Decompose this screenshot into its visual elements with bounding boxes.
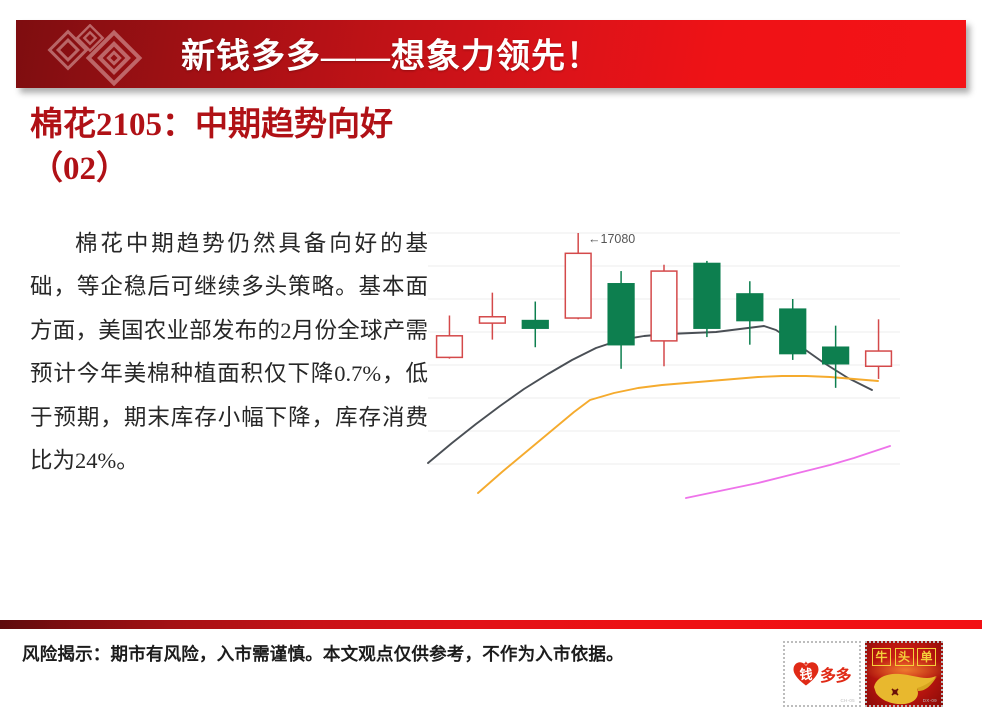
candle-body [737, 294, 763, 321]
candle [522, 302, 548, 348]
page-title: 棉花2105：中期趋势向好（02） [30, 103, 430, 191]
header-title: 新钱多多——想象力领先！ [181, 29, 601, 78]
niutoudan-chars: 牛 头 单 [872, 648, 936, 666]
heart-char: 钱 [799, 668, 812, 681]
candle [479, 293, 505, 340]
candle [737, 281, 763, 344]
ma-line-ma-mid [478, 376, 878, 493]
footer-divider [0, 620, 982, 629]
candle-body [651, 271, 677, 341]
candle-body [479, 317, 505, 323]
disclaimer-text: 风险揭示：期市有风险，入市需谨慎。本文观点仅供参考，不作为入市依据。 [22, 641, 624, 666]
candle [780, 299, 806, 360]
price-annotation: ←17080 [588, 232, 635, 246]
chart-annotations: ←17080 [588, 232, 635, 246]
candle [694, 261, 720, 337]
niutoudan-char-0: 牛 [872, 648, 891, 666]
candle [866, 319, 892, 379]
candle-body [565, 253, 591, 318]
chart-canvas: ←17080 [424, 208, 924, 528]
body-paragraph: 棉花中期趋势仍然具备向好的基础，等企稳后可继续多头策略。基本面方面，美国农业部发… [30, 222, 428, 483]
ma-line-ma-long [686, 446, 890, 498]
candle [437, 316, 463, 359]
qianduoduo-text: 多多 [820, 662, 851, 686]
candle [651, 265, 677, 367]
candle-body [866, 351, 892, 366]
niutoudan-stamp: 牛 头 单 DX-09 [865, 641, 943, 707]
footer-stamps: ✦ 钱 多多 CH-05 牛 头 单 DX-09 [783, 641, 943, 707]
header-banner: 新钱多多——想象力领先！ [16, 20, 966, 88]
candlestick-chart: ←17080 [424, 208, 924, 528]
slide-root: 新钱多多——想象力领先！ 棉花2105：中期趋势向好（02） 棉花中期趋势仍然具… [0, 0, 982, 720]
niutoudan-char-1: 头 [895, 648, 914, 666]
diamond-lattice-icon [38, 24, 158, 86]
candle [608, 271, 634, 369]
candle-body [694, 263, 720, 328]
candle-body [823, 347, 849, 364]
heart-icon: ✦ 钱 [793, 662, 819, 687]
candle-body [437, 336, 463, 358]
candle-body [780, 309, 806, 353]
bull-head-icon [870, 667, 940, 707]
stamp-code: CH-05 [840, 698, 855, 703]
niutoudan-char-2: 单 [917, 648, 936, 666]
candle-body [608, 284, 634, 345]
chart-moving-averages [428, 326, 890, 498]
qianduoduo-stamp: ✦ 钱 多多 CH-05 [783, 641, 861, 707]
candle-body [522, 321, 548, 329]
